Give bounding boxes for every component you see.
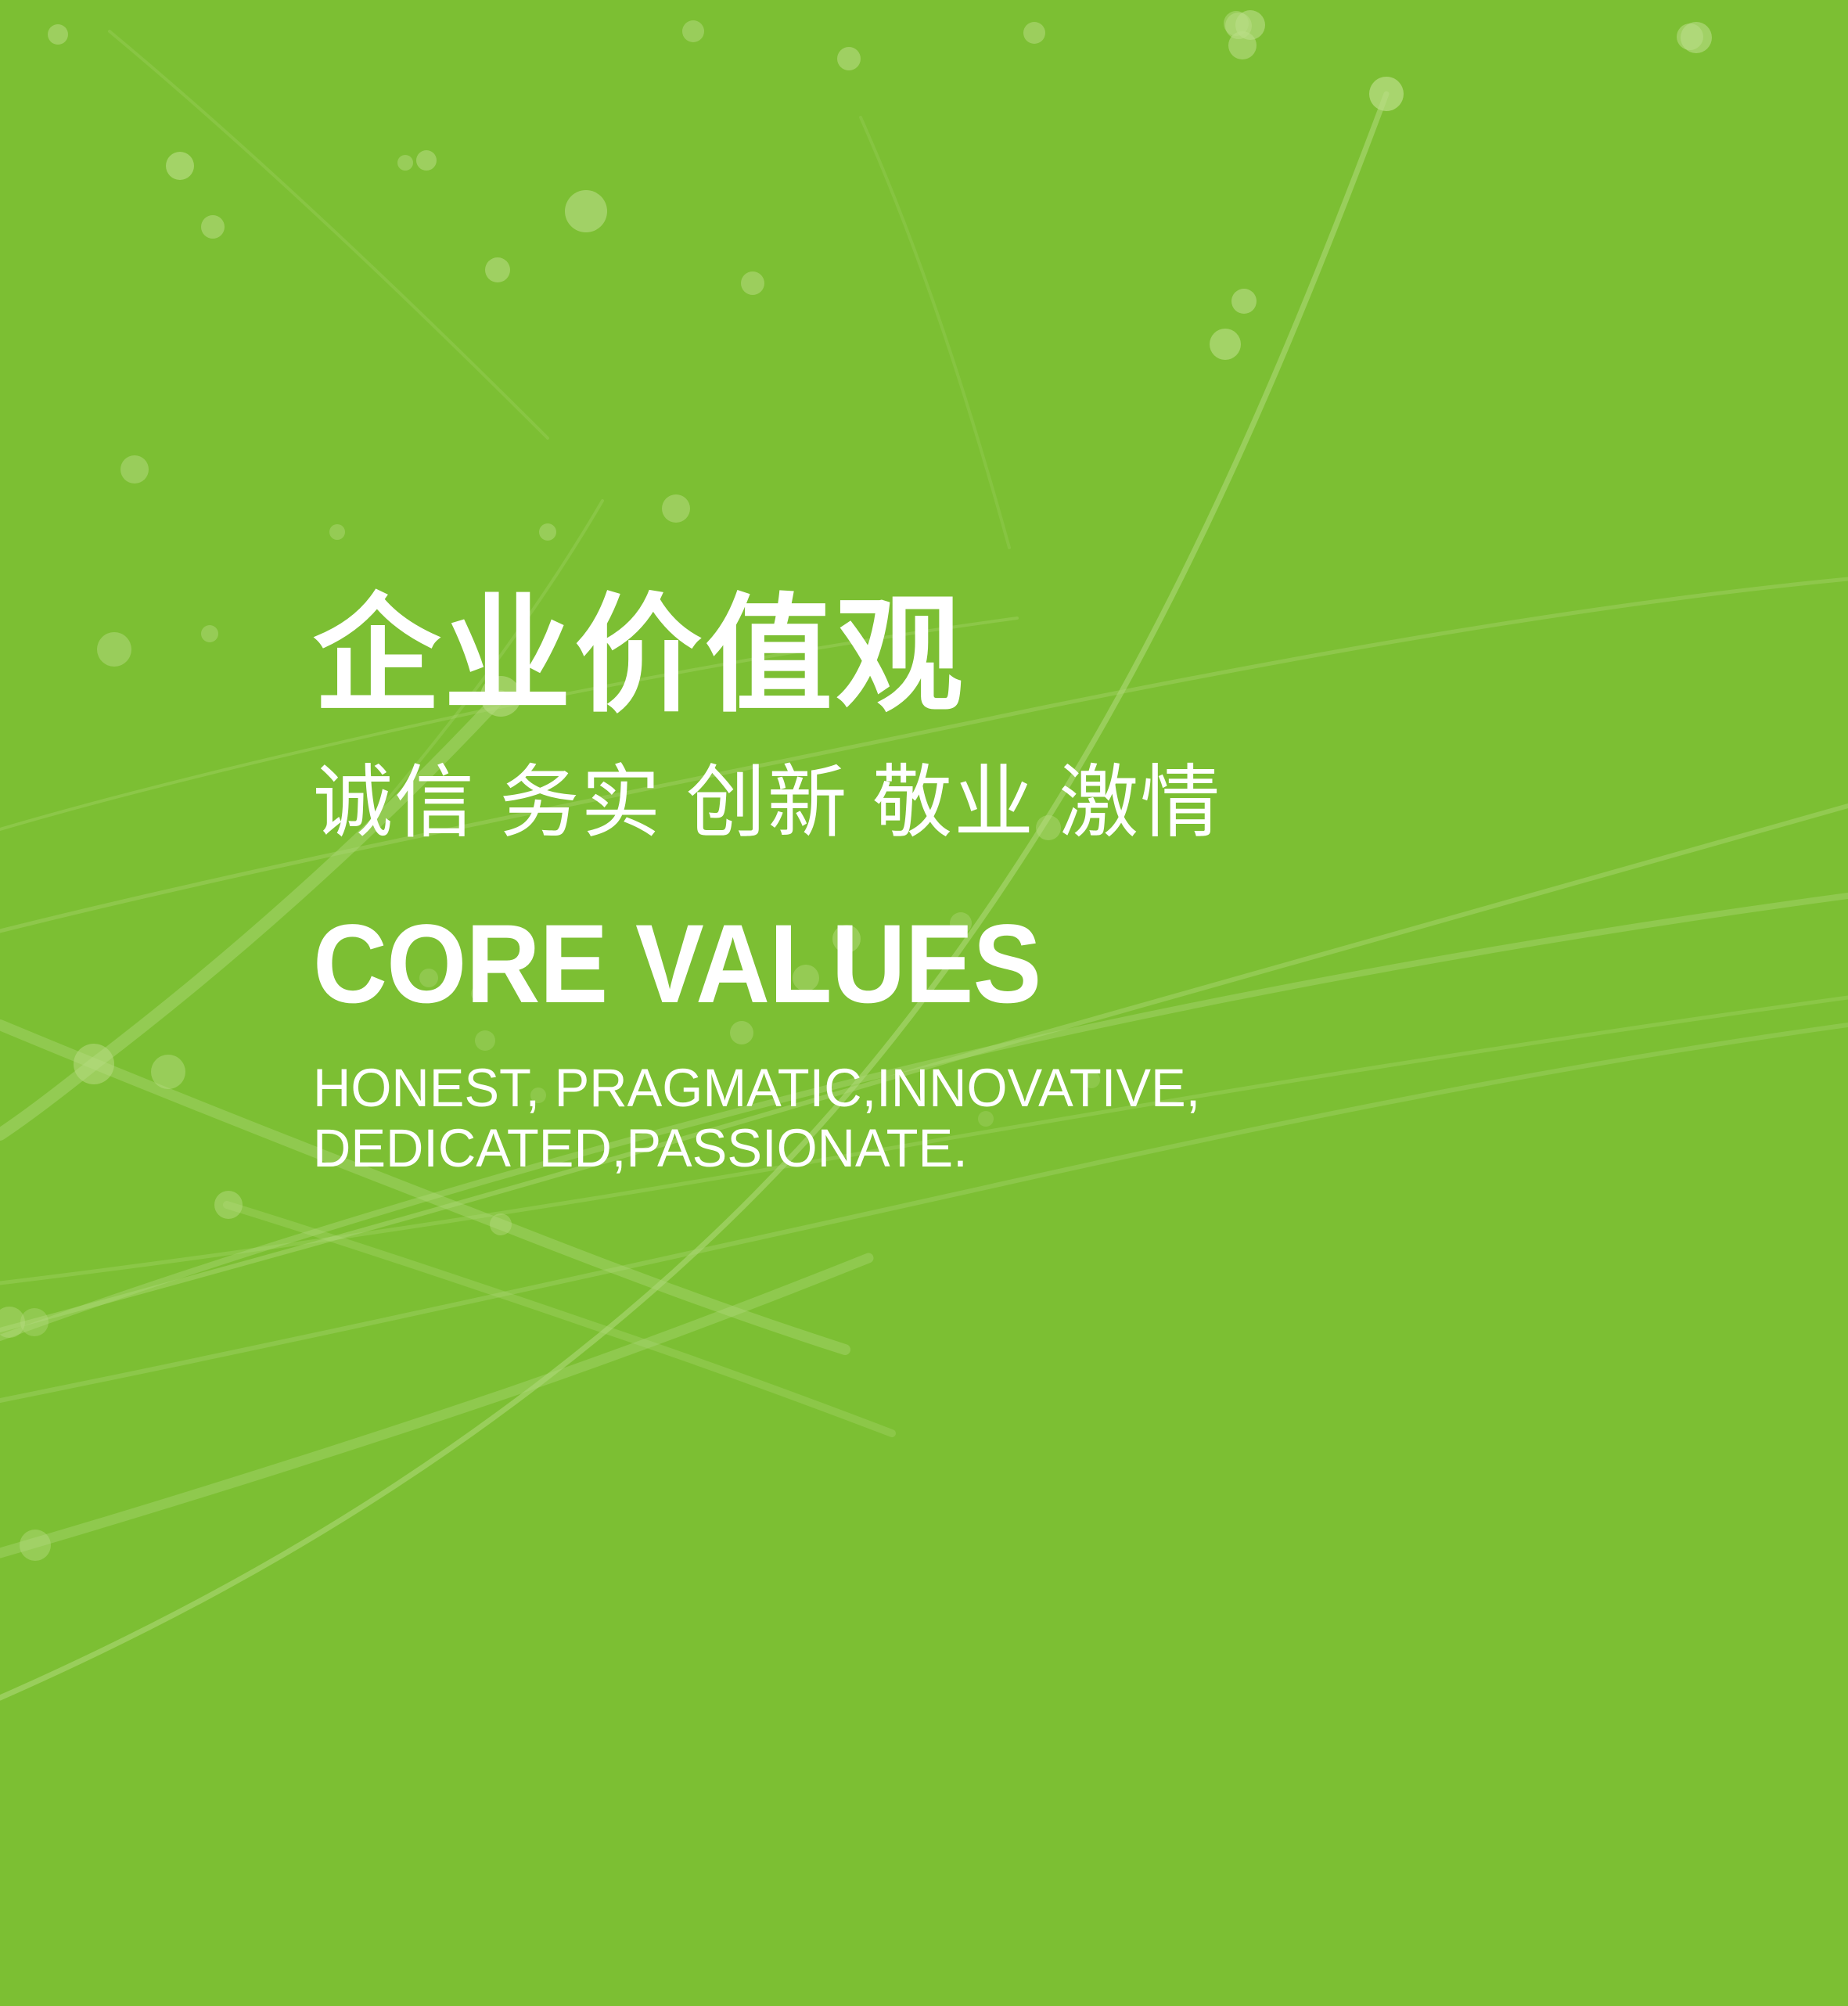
subtitle-english-values: HONEST, PRAGMATIC,INNOVATIVE, DEDICATED,… [313, 1058, 1641, 1179]
page-title-chinese: 企业价值观 [313, 591, 1682, 719]
page-title-english: CORE VALUES [313, 908, 1573, 1020]
core-values-poster: 企业价值观 诚信 务实 创新 敬业 激情 CORE VALUES HONEST,… [0, 0, 1848, 2006]
subtitle-english-line-2: DEDICATED,PASSIONATE. [313, 1118, 1641, 1178]
subtitle-chinese-values: 诚信 务实 创新 敬业 激情 [313, 763, 1682, 843]
poster-content: 企业价值观 诚信 务实 创新 敬业 激情 CORE VALUES HONEST,… [313, 591, 1682, 1179]
subtitle-english-line-1: HONEST, PRAGMATIC,INNOVATIVE, [313, 1058, 1641, 1118]
